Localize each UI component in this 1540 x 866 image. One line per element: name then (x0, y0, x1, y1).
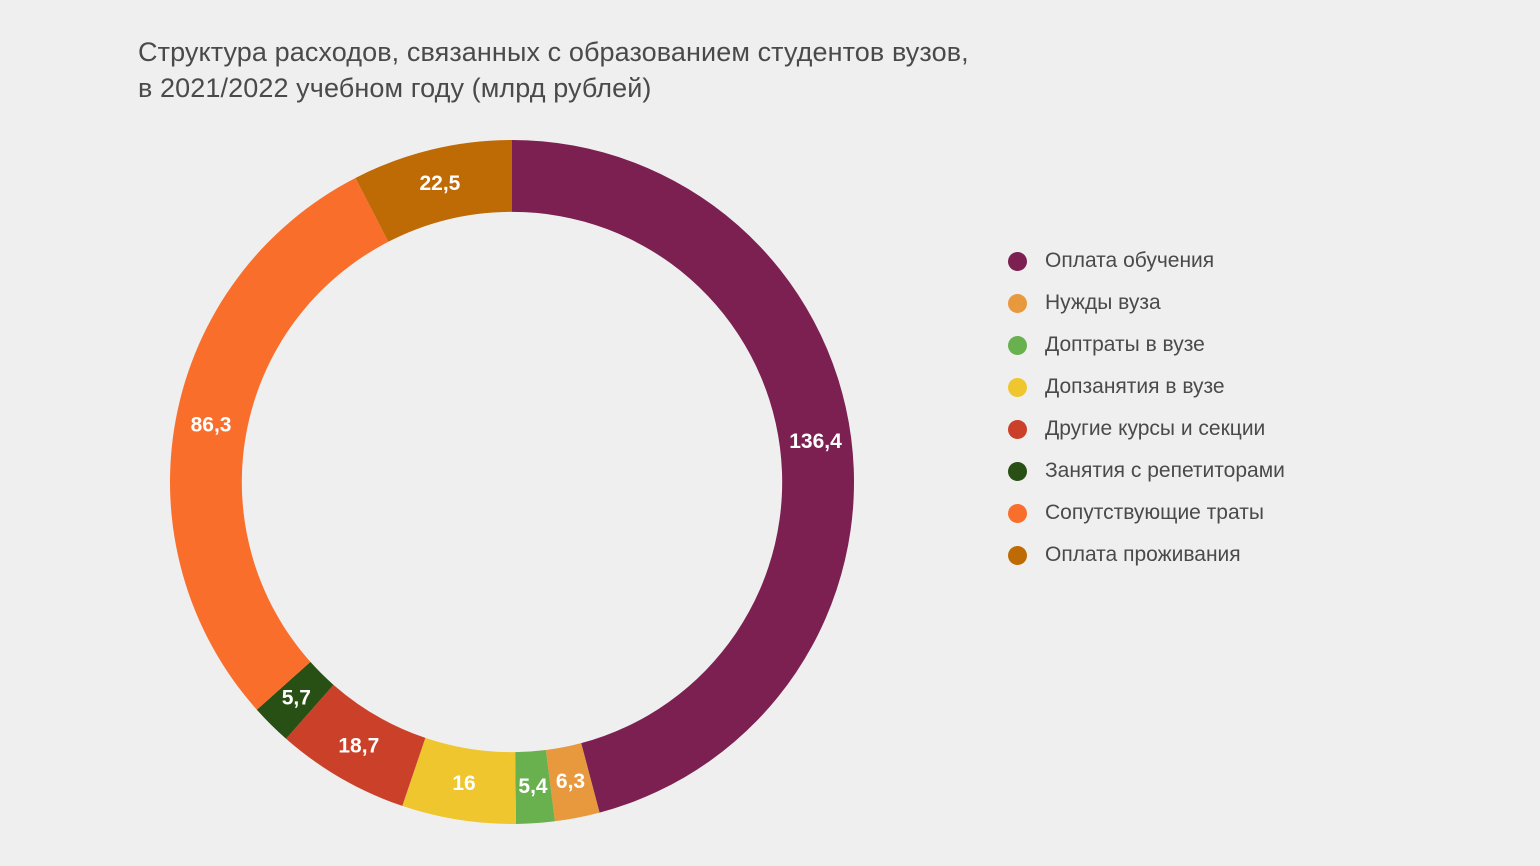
legend-item-label: Оплата обучения (1045, 249, 1214, 273)
donut-slice-value-label: 18,7 (338, 735, 379, 758)
donut-slice-value-label: 86,3 (191, 414, 232, 437)
legend-item-label: Сопутствующие траты (1045, 501, 1264, 525)
legend-item-label: Допзанятия в вузе (1045, 375, 1225, 399)
legend-swatch-icon (1008, 252, 1027, 271)
donut-slice-value-label: 6,3 (556, 770, 585, 793)
legend-swatch-icon (1008, 420, 1027, 439)
donut-slice[interactable] (512, 140, 854, 813)
legend-item[interactable]: Оплата проживания (1008, 534, 1478, 576)
legend-item-label: Нужды вуза (1045, 291, 1161, 315)
legend-item[interactable]: Допзанятия в вузе (1008, 366, 1478, 408)
chart-page: Структура расходов, связанных с образова… (0, 0, 1540, 866)
donut-slice-value-label: 5,7 (282, 687, 311, 710)
legend-swatch-icon (1008, 378, 1027, 397)
donut-slice[interactable] (170, 178, 388, 710)
donut-slice-value-label: 5,4 (518, 775, 548, 798)
donut-slice-value-label: 136,4 (789, 430, 842, 453)
legend-swatch-icon (1008, 546, 1027, 565)
legend-item[interactable]: Другие курсы и секции (1008, 408, 1478, 450)
page-title: Структура расходов, связанных с образова… (138, 34, 1258, 106)
legend-swatch-icon (1008, 294, 1027, 313)
legend-item[interactable]: Сопутствующие траты (1008, 492, 1478, 534)
legend-swatch-icon (1008, 504, 1027, 523)
chart-legend: Оплата обученияНужды вузаДоптраты в вузе… (1008, 240, 1478, 576)
legend-item[interactable]: Оплата обучения (1008, 240, 1478, 282)
legend-swatch-icon (1008, 462, 1027, 481)
legend-swatch-icon (1008, 336, 1027, 355)
legend-item-label: Оплата проживания (1045, 543, 1241, 567)
donut-slice-value-label: 16 (452, 772, 475, 795)
legend-item[interactable]: Доптраты в вузе (1008, 324, 1478, 366)
donut-chart: 136,46,35,41618,75,786,322,5 (170, 140, 854, 824)
donut-chart-svg: 136,46,35,41618,75,786,322,5 (170, 140, 854, 824)
legend-item-label: Другие курсы и секции (1045, 417, 1265, 441)
legend-item[interactable]: Занятия с репетиторами (1008, 450, 1478, 492)
donut-slices (170, 140, 854, 824)
legend-item-label: Доптраты в вузе (1045, 333, 1205, 357)
donut-slice-value-label: 22,5 (419, 172, 460, 195)
legend-item[interactable]: Нужды вуза (1008, 282, 1478, 324)
legend-item-label: Занятия с репетиторами (1045, 459, 1285, 483)
